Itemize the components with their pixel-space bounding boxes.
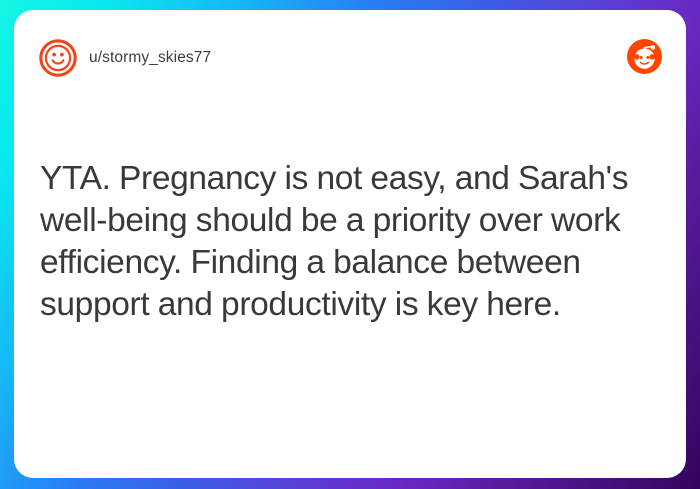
post-body-text: YTA. Pregnancy is not easy, and Sarah's … [40,158,668,326]
card-header: u/stormy_skies77 [14,10,686,110]
avatar[interactable] [38,38,78,78]
reddit-snoo-icon[interactable] [627,39,662,74]
username-label: u/stormy_skies77 [89,47,211,69]
reddit-comment-card: u/stormy_skies77 YTA. Pregnancy is not e… [14,10,686,478]
gradient-background: u/stormy_skies77 YTA. Pregnancy is not e… [0,0,700,489]
